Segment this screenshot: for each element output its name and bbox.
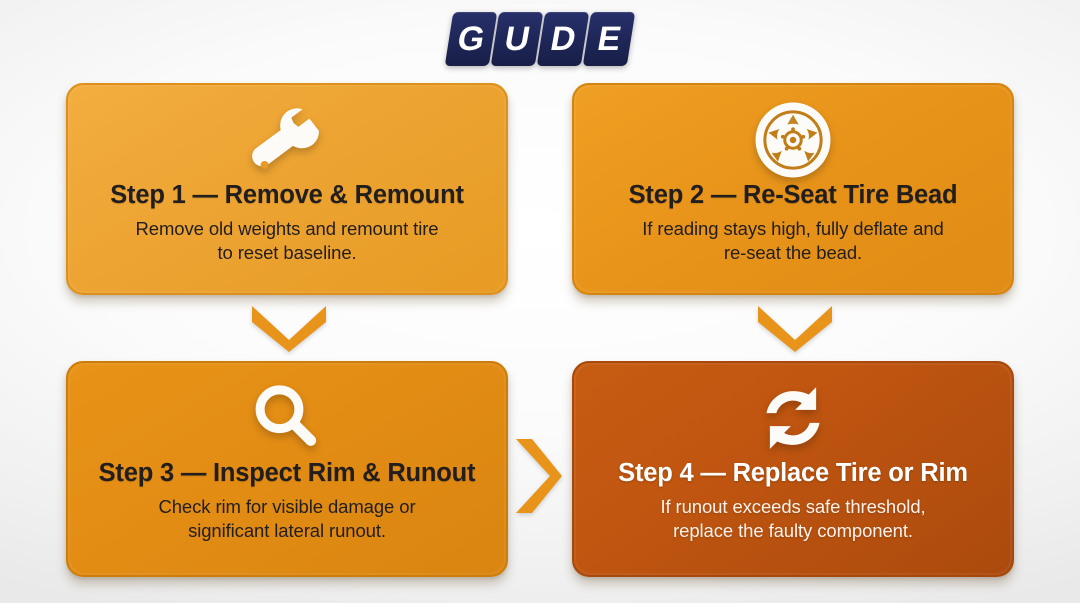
step-title: Step 4 — Replace Tire or Rim [574, 459, 1012, 488]
step-title: Step 1 — Remove & Remount [68, 181, 506, 210]
step-description-line: to reset baseline. [94, 241, 480, 266]
chevron-down-icon [752, 302, 838, 352]
chevron-down-icon [246, 302, 332, 352]
logo-tile-g: G [445, 12, 498, 66]
logo-letter: E [595, 22, 624, 56]
step-card-3: Step 3 — Inspect Rim & Runout Check rim … [66, 361, 508, 577]
step-title: Step 3 — Inspect Rim & Runout [68, 459, 506, 488]
brand-logo: G U D E [0, 11, 1080, 67]
connector-step1-to-step3 [246, 302, 332, 352]
logo-letter: G [455, 22, 487, 56]
chevron-right-icon [512, 433, 562, 519]
refresh-cycle-icon [574, 363, 1012, 459]
step-description-line: replace the faulty component. [600, 519, 986, 544]
tire-wheel-icon [574, 85, 1012, 181]
wrench-icon [68, 85, 506, 181]
step-description-line: If runout exceeds safe threshold, [600, 495, 986, 520]
step-card-1: Step 1 — Remove & Remount Remove old wei… [66, 83, 508, 295]
step-description: If runout exceeds safe threshold, replac… [574, 495, 1012, 544]
logo-tile-u: U [491, 12, 544, 66]
logo-letter: D [548, 22, 579, 56]
connector-step2-to-step4 [752, 302, 838, 352]
step-description-line: Check rim for visible damage or [94, 495, 480, 520]
logo-tile-e: E [583, 12, 636, 66]
step-description: Check rim for visible damage or signific… [68, 495, 506, 544]
step-description-line: significant lateral runout. [94, 519, 480, 544]
logo-tile-d: D [537, 12, 590, 66]
magnifier-icon [68, 363, 506, 459]
step-description-line: If reading stays high, fully deflate and [600, 217, 986, 242]
step-description: If reading stays high, fully deflate and… [574, 217, 1012, 266]
step-card-4: Step 4 — Replace Tire or Rim If runout e… [572, 361, 1014, 577]
logo-letter: U [502, 22, 533, 56]
step-card-2: Step 2 — Re-Seat Tire Bead If reading st… [572, 83, 1014, 295]
step-title: Step 2 — Re-Seat Tire Bead [574, 181, 1012, 210]
step-description: Remove old weights and remount tire to r… [68, 217, 506, 266]
connector-step3-to-step4 [512, 433, 562, 519]
step-description-line: Remove old weights and remount tire [94, 217, 480, 242]
infographic-stage: G U D E Step 1 — Remove & Remount Remove… [0, 0, 1080, 603]
step-description-line: re-seat the bead. [600, 241, 986, 266]
